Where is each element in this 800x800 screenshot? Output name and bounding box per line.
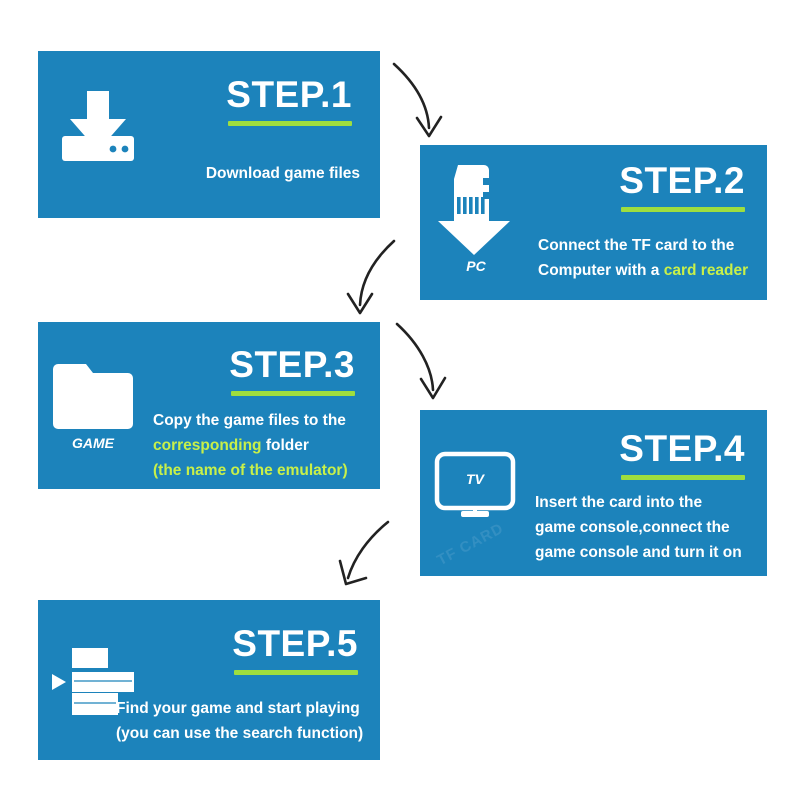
step-3-line-3: (the name of the emulator) (153, 462, 348, 479)
step-4-caption-line-2: game console,connect the (535, 515, 730, 540)
step-2-line-1: Connect the TF card to the (538, 237, 734, 254)
step-3-icon-label: GAME (52, 435, 134, 451)
step-3-caption-line-1: Copy the game files to the (153, 408, 346, 433)
step-5-caption-line-1: Find your game and start playing (116, 696, 360, 721)
step-3-line-2-highlight: corresponding (153, 437, 262, 454)
step-4-heading: STEP.4 (619, 430, 745, 467)
arrow-1-to-2 (390, 58, 448, 144)
step-1-heading: STEP.1 (226, 76, 352, 113)
arrow-3-to-4 (393, 318, 453, 406)
step-2-caption-line-2: Computer with a card reader (538, 258, 748, 283)
step-1-caption: Download game files (206, 161, 360, 186)
step-3-underline (231, 391, 355, 396)
step-4-icon-label: TV (432, 471, 518, 487)
tf-card-to-pc-icon (434, 163, 518, 261)
step-4-underline (621, 475, 745, 480)
step-2-icon-label: PC (434, 258, 518, 274)
tv-icon (432, 450, 518, 526)
step-5-heading: STEP.5 (232, 625, 358, 662)
step-2-caption-line-1: Connect the TF card to the (538, 233, 734, 258)
step-4-caption-line-1: Insert the card into the (535, 490, 702, 515)
step-4-panel: TV STEP.4 Insert the card into the game … (420, 410, 767, 576)
step-2-underline (621, 207, 745, 212)
step-5-caption-line-2: (you can use the search function) (116, 721, 363, 746)
step-3-caption-line-3: (the name of the emulator) (153, 458, 348, 483)
step-3-line-2-b: folder (262, 437, 309, 454)
download-to-tray-icon (58, 89, 138, 167)
step-5-panel: STEP.5 Find your game and start playing … (38, 600, 380, 760)
step-5-underline (234, 670, 358, 675)
step-1-underline (228, 121, 352, 126)
step-3-caption-line-2: corresponding folder (153, 433, 309, 458)
step-3-line-1: Copy the game files to the (153, 412, 346, 429)
folder-icon (52, 362, 134, 432)
step-3-panel: GAME STEP.3 Copy the game files to the c… (38, 322, 380, 489)
step-2-line-2-a: Computer with a (538, 262, 664, 279)
step-2-heading: STEP.2 (619, 162, 745, 199)
step-1-line-1: Download game files (206, 165, 360, 182)
step-4-line-1: Insert the card into the (535, 494, 702, 511)
step-2-line-2-highlight: card reader (664, 262, 748, 279)
arrow-2-to-3 (342, 237, 400, 319)
step-3-heading: STEP.3 (229, 346, 355, 383)
step-2-panel: PC STEP.2 Connect the TF card to the Com… (420, 145, 767, 300)
step-5-line-1: Find your game and start playing (116, 700, 360, 717)
step-4-caption-line-3: game console and turn it on (535, 540, 742, 565)
infographic-canvas: STEP.1 Download game files (0, 0, 800, 800)
step-4-line-2: game console,connect the (535, 519, 730, 536)
arrow-4-to-5 (332, 516, 394, 596)
step-4-line-3: game console and turn it on (535, 544, 742, 561)
step-1-panel: STEP.1 Download game files (38, 51, 380, 218)
step-5-line-2: (you can use the search function) (116, 725, 363, 742)
watermark: TF CARD (434, 520, 506, 569)
